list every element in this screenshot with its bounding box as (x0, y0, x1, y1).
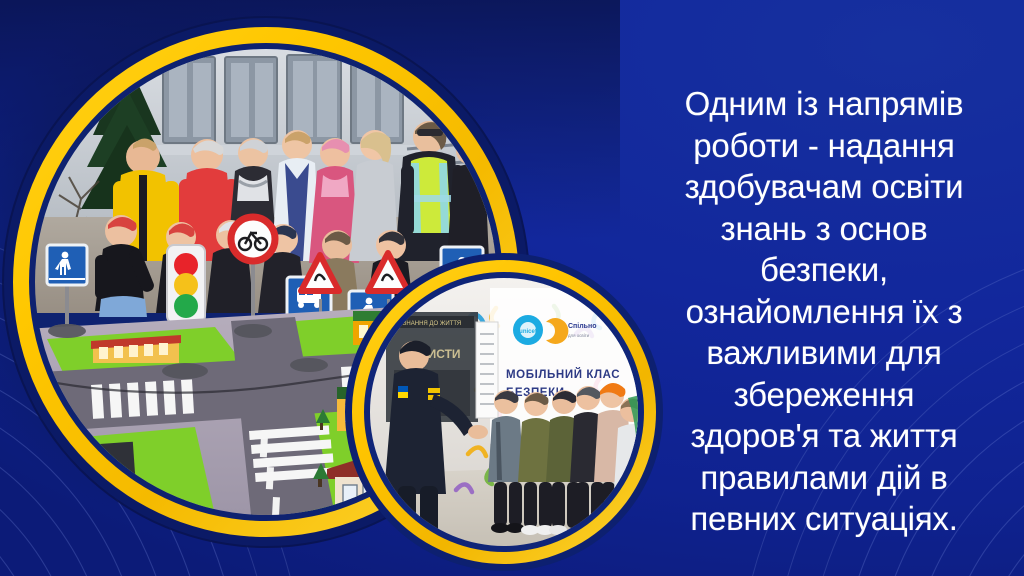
svg-text:МОБІЛЬНИЙ КЛАС: МОБІЛЬНИЙ КЛАС (506, 368, 620, 381)
text-panel: Одним із напрямів роботи - надання здобу… (648, 50, 1000, 573)
svg-text:unicef: unicef (519, 329, 538, 335)
secondary-photo-circle: unicef Спільно для освіти МОБІЛЬНИЙ КЛАС… (345, 253, 663, 571)
slide-root: ЖИТЛО (0, 0, 1024, 576)
secondary-photo-image: unicef Спільно для освіти МОБІЛЬНИЙ КЛАС… (370, 278, 638, 546)
slide-body-text: Одним із напрямів роботи - надання здобу… (648, 83, 1000, 540)
svg-text:для освіти: для освіти (568, 333, 590, 338)
svg-text:Спільно: Спільно (568, 322, 596, 330)
svg-text:ЗНАННЯ ДО ЖИТТЯ: ЗНАННЯ ДО ЖИТТЯ (403, 321, 461, 327)
